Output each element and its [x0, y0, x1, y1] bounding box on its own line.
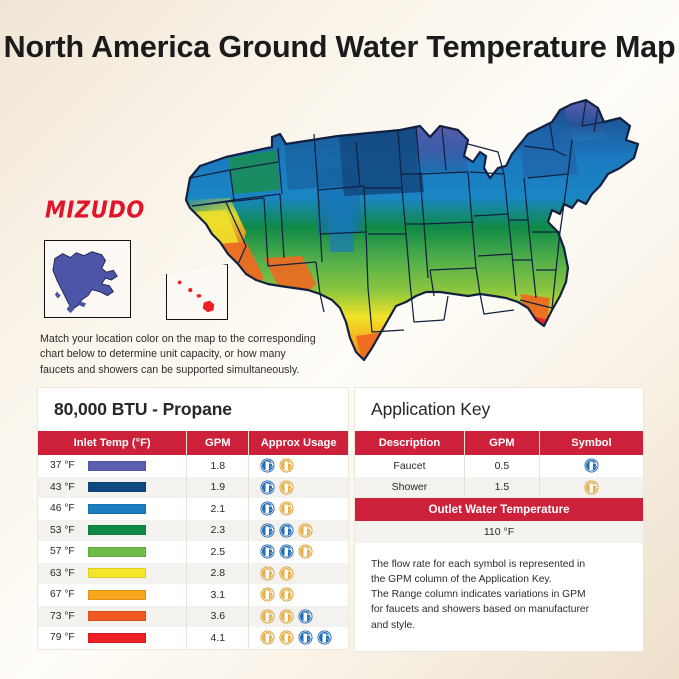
- gpm-cell: 3.6: [187, 606, 249, 628]
- inlet-temp-label: 53 °F: [50, 525, 79, 536]
- shower-icon: [260, 630, 275, 645]
- capacity-row: 37 °F1.8: [38, 455, 348, 477]
- approx-usage-cell: [249, 627, 348, 649]
- temperature-color-swatch: [88, 633, 146, 643]
- temperature-color-swatch: [88, 568, 146, 578]
- inlet-temp-cell: 46 °F: [38, 498, 187, 520]
- approx-usage-cell: [249, 541, 348, 563]
- shower-icon: [298, 544, 313, 559]
- groundwater-temperature-map: [168, 82, 668, 372]
- note-line: the GPM column of the Application Key.: [371, 572, 627, 587]
- approx-usage-cell: [249, 520, 348, 542]
- temperature-color-swatch: [88, 504, 146, 514]
- brand-logo: MIZUDO: [45, 197, 145, 223]
- inlet-temp-label: 67 °F: [50, 589, 79, 600]
- key-gpm-cell: 1.5: [464, 477, 539, 499]
- col-description: Description: [355, 431, 464, 455]
- inlet-temp-label: 57 °F: [50, 546, 79, 557]
- temperature-color-swatch: [88, 461, 146, 471]
- inlet-temp-label: 63 °F: [50, 568, 79, 579]
- shower-icon: [298, 523, 313, 538]
- col-inlet-temp: Inlet Temp (°F): [38, 431, 187, 455]
- inlet-temp-cell: 63 °F: [38, 563, 187, 585]
- gpm-cell: 2.3: [187, 520, 249, 542]
- temperature-color-swatch: [88, 482, 146, 492]
- faucet-icon: [279, 523, 294, 538]
- faucet-icon: [584, 458, 599, 473]
- col-symbol: Symbol: [539, 431, 643, 455]
- col-gpm: GPM: [187, 431, 249, 455]
- approx-usage-cell: [249, 455, 348, 477]
- approx-usage-cell: [249, 477, 348, 499]
- gpm-cell: 2.1: [187, 498, 249, 520]
- temperature-color-swatch: [88, 590, 146, 600]
- faucet-icon: [317, 630, 332, 645]
- capacity-row: 43 °F1.9: [38, 477, 348, 499]
- inlet-temp-cell: 79 °F: [38, 627, 187, 649]
- capacity-table-body: 37 °F1.843 °F1.946 °F2.153 °F2.357 °F2.5…: [38, 455, 348, 649]
- faucet-icon: [298, 609, 313, 624]
- capacity-table-header-row: Inlet Temp (°F) GPM Approx Usage: [38, 431, 348, 455]
- key-table-header-row: Description GPM Symbol: [355, 431, 643, 455]
- col-approx-usage: Approx Usage: [249, 431, 348, 455]
- inlet-temp-cell: 53 °F: [38, 520, 187, 542]
- faucet-icon: [298, 630, 313, 645]
- key-gpm-cell: 0.5: [464, 455, 539, 477]
- gpm-cell: 3.1: [187, 584, 249, 606]
- shower-icon: [260, 609, 275, 624]
- shower-icon: [260, 566, 275, 581]
- shower-icon: [279, 630, 294, 645]
- shower-icon: [279, 458, 294, 473]
- faucet-icon: [260, 523, 275, 538]
- shower-icon: [584, 480, 599, 495]
- description-cell: Faucet: [355, 455, 464, 477]
- note-line: for faucets and showers based on manufac…: [371, 602, 627, 617]
- temperature-color-swatch: [88, 525, 146, 535]
- instructions-text: Match your location color on the map to …: [40, 332, 320, 378]
- inlet-temp-cell: 67 °F: [38, 584, 187, 606]
- faucet-icon: [260, 480, 275, 495]
- key-row: Faucet0.5: [355, 455, 643, 477]
- inlet-temp-label: 73 °F: [50, 611, 79, 622]
- faucet-icon: [260, 544, 275, 559]
- gpm-cell: 4.1: [187, 627, 249, 649]
- shower-icon: [279, 566, 294, 581]
- faucet-icon: [260, 458, 275, 473]
- gpm-cell: 1.9: [187, 477, 249, 499]
- inlet-temp-label: 37 °F: [50, 460, 79, 471]
- approx-usage-cell: [249, 606, 348, 628]
- key-note-text: The flow rate for each symbol is represe…: [355, 543, 643, 651]
- right-panel-heading: Application Key: [355, 388, 643, 431]
- approx-usage-cell: [249, 498, 348, 520]
- outlet-temp-header: Outlet Water Temperature: [355, 498, 643, 521]
- note-line: The flow rate for each symbol is represe…: [371, 557, 627, 572]
- inlet-temp-label: 46 °F: [50, 503, 79, 514]
- inlet-temp-label: 43 °F: [50, 482, 79, 493]
- shower-icon: [260, 587, 275, 602]
- inlet-temp-cell: 37 °F: [38, 455, 187, 477]
- btu-capacity-panel: 80,000 BTU - Propane Inlet Temp (°F) GPM…: [38, 388, 348, 649]
- inlet-temp-cell: 43 °F: [38, 477, 187, 499]
- key-table-body: Faucet0.5Shower1.5: [355, 455, 643, 498]
- capacity-row: 67 °F3.1: [38, 584, 348, 606]
- symbol-cell: [539, 477, 643, 499]
- key-row: Shower1.5: [355, 477, 643, 499]
- note-line: The Range column indicates variations in…: [371, 587, 627, 602]
- application-key-panel: Application Key Description GPM Symbol F…: [355, 388, 643, 651]
- gpm-cell: 1.8: [187, 455, 249, 477]
- capacity-row: 73 °F3.6: [38, 606, 348, 628]
- left-panel-heading: 80,000 BTU - Propane: [38, 388, 348, 431]
- faucet-icon: [279, 544, 294, 559]
- gpm-cell: 2.5: [187, 541, 249, 563]
- application-key-table: Description GPM Symbol Faucet0.5Shower1.…: [355, 431, 643, 498]
- shower-icon: [279, 587, 294, 602]
- temperature-color-swatch: [88, 611, 146, 621]
- description-cell: Shower: [355, 477, 464, 499]
- inlet-temp-label: 79 °F: [50, 632, 79, 643]
- col-key-gpm: GPM: [464, 431, 539, 455]
- outlet-temp-value: 110 °F: [355, 521, 643, 543]
- shower-icon: [279, 480, 294, 495]
- us-map-svg: [168, 82, 668, 372]
- capacity-table: Inlet Temp (°F) GPM Approx Usage 37 °F1.…: [38, 431, 348, 649]
- note-line: and style.: [371, 618, 627, 633]
- capacity-row: 53 °F2.3: [38, 520, 348, 542]
- inset-alaska: [44, 240, 131, 318]
- gpm-cell: 2.8: [187, 563, 249, 585]
- hawaii-shape: [167, 265, 227, 319]
- temperature-color-swatch: [88, 547, 146, 557]
- inlet-temp-cell: 57 °F: [38, 541, 187, 563]
- inlet-temp-cell: 73 °F: [38, 606, 187, 628]
- faucet-icon: [260, 501, 275, 516]
- approx-usage-cell: [249, 563, 348, 585]
- capacity-row: 57 °F2.5: [38, 541, 348, 563]
- approx-usage-cell: [249, 584, 348, 606]
- capacity-row: 63 °F2.8: [38, 563, 348, 585]
- alaska-shape: [45, 241, 130, 317]
- shower-icon: [279, 501, 294, 516]
- symbol-cell: [539, 455, 643, 477]
- page-title: North America Ground Water Temperature M…: [0, 30, 679, 65]
- capacity-row: 46 °F2.1: [38, 498, 348, 520]
- shower-icon: [279, 609, 294, 624]
- capacity-row: 79 °F4.1: [38, 627, 348, 649]
